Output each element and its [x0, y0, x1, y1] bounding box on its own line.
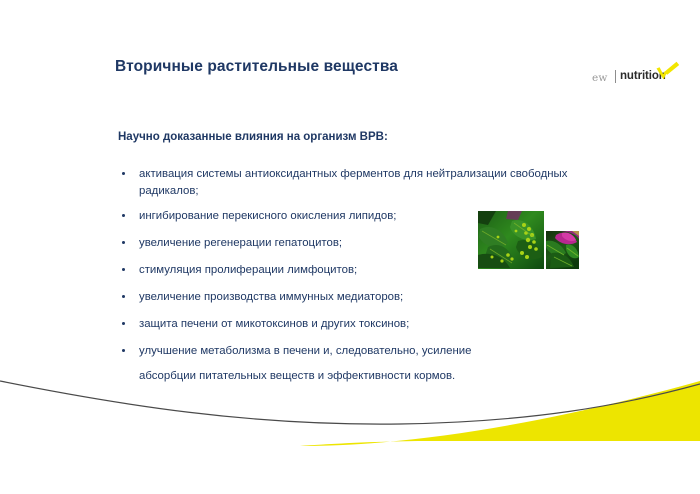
bullet-dot-icon [122, 214, 125, 217]
list-item-text: ингибирование перекисного окисления липи… [139, 210, 396, 222]
yellow-band [300, 381, 700, 446]
checkmark-icon [654, 61, 680, 81]
list-item: увеличение производства иммунных медиато… [118, 289, 588, 306]
curve-line [0, 381, 700, 424]
list-item-text: стимуляция пролиферации лимфоцитов; [139, 264, 357, 276]
list-item: активация системы антиоксидантных фермен… [118, 166, 588, 199]
list-item-text-continued: абсорбции питательных веществ и эффектив… [139, 368, 588, 385]
bullet-dot-icon [122, 322, 125, 325]
list-item-text: увеличение производства иммунных медиато… [139, 291, 403, 303]
bullet-dot-icon [122, 349, 125, 352]
list-item-text: увеличение регенерации гепатоцитов; [139, 237, 342, 249]
list-item-text: защита печени от микотоксинов и других т… [139, 318, 409, 330]
bullet-dot-icon [122, 172, 125, 175]
pink-flower-photo [546, 231, 579, 269]
section-subtitle: Научно доказанные влияния на организм ВР… [118, 131, 388, 143]
bullet-dot-icon [122, 295, 125, 298]
logo-prefix-text: ew [592, 72, 608, 84]
bullet-dot-icon [122, 268, 125, 271]
slide-canvas: Вторичные растительные вещества ew nutri… [0, 0, 700, 494]
page-title: Вторичные растительные вещества [115, 58, 398, 76]
list-item-text: активация системы антиоксидантных фермен… [139, 168, 567, 197]
benefits-list: активация системы антиоксидантных фермен… [118, 166, 588, 384]
list-item-text: улучшение метаболизма в печени и, следов… [139, 345, 471, 357]
brand-logo: ew nutrition [592, 66, 684, 92]
green-plant-photo [478, 211, 544, 269]
list-item: улучшение метаболизма в печени и, следов… [118, 343, 588, 384]
bullet-dot-icon [122, 241, 125, 244]
list-item: защита печени от микотоксинов и других т… [118, 316, 588, 333]
logo-divider [615, 70, 616, 83]
